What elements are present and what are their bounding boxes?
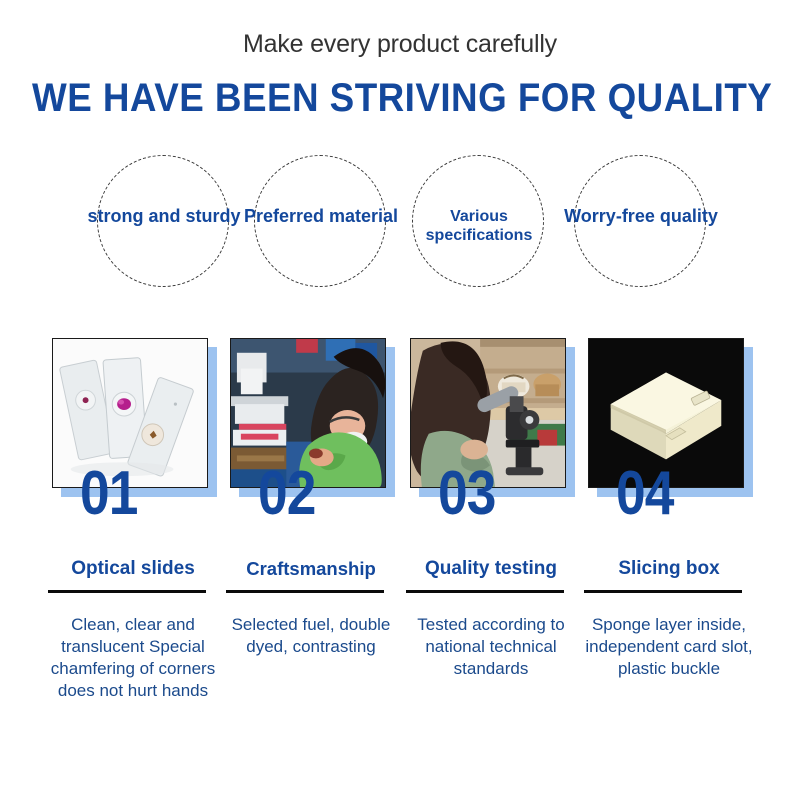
feature-badge-preferred-material: Preferred material	[254, 155, 386, 287]
product-card-optical-slides: 01 Optical slides Clean, clear and trans…	[44, 338, 222, 778]
feature-badge-label: Worry-free quality	[559, 206, 723, 227]
feature-badge-various-specifications: Various specifications	[412, 155, 544, 287]
product-card-slicing-box: 04 Slicing box Sponge layer inside, inde…	[580, 338, 758, 778]
product-card-number: 04	[616, 463, 674, 525]
product-card-title: Quality testing	[402, 558, 580, 580]
product-card-title: Optical slides	[44, 558, 222, 580]
product-card-craftsmanship: 02 Craftsmanship Selected fuel, double d…	[222, 338, 400, 778]
product-card-description: Selected fuel, double dyed, contrasting	[220, 614, 402, 658]
product-card-title: Craftsmanship	[222, 558, 400, 580]
product-card-number: 03	[438, 463, 496, 525]
product-card-divider	[48, 590, 206, 593]
page-subtitle: Make every product carefully	[0, 30, 800, 59]
product-card-quality-testing: 03 Quality testing Tested according to n…	[402, 338, 580, 778]
feature-badge-worry-free-quality: Worry-free quality	[574, 155, 706, 287]
feature-badge-label: Preferred material	[239, 206, 403, 227]
feature-badge-row: strong and sturdy Preferred material Var…	[0, 155, 800, 290]
product-card-divider	[584, 590, 742, 593]
page-headline: WE HAVE BEEN STRIVING FOR QUALITY	[32, 76, 768, 121]
feature-badge-label: Various specifications	[397, 208, 561, 246]
feature-badge-strong-and-sturdy: strong and sturdy	[97, 155, 229, 287]
product-card-divider	[406, 590, 564, 593]
product-card-divider	[226, 590, 384, 593]
product-card-description: Clean, clear and translucent Special cha…	[42, 614, 224, 702]
feature-badge-label: strong and sturdy	[82, 206, 246, 227]
product-card-description: Sponge layer inside, independent card sl…	[578, 614, 760, 680]
product-card-description: Tested according to national technical s…	[400, 614, 582, 680]
product-card-row: 01 Optical slides Clean, clear and trans…	[0, 338, 800, 778]
product-card-title: Slicing box	[580, 558, 758, 580]
product-card-number: 02	[258, 463, 316, 525]
product-card-number: 01	[80, 463, 138, 525]
